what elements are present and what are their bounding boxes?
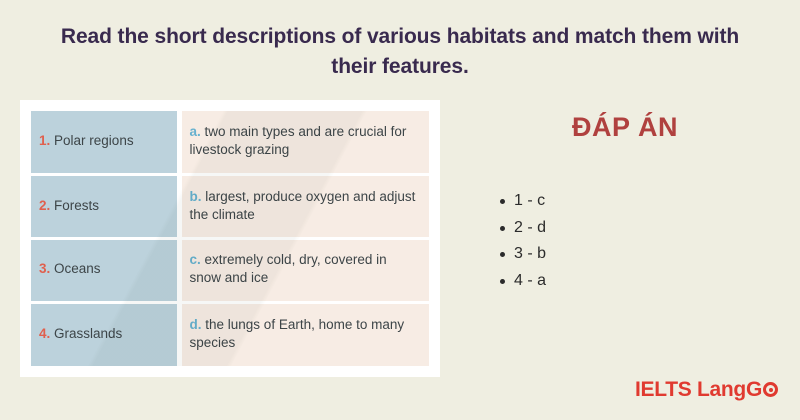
habitat-cell: 1. Polar regions: [31, 111, 179, 175]
feature-label: c. extremely cold, dry, covered in snow …: [190, 251, 422, 287]
list-item: 3 - b: [514, 241, 546, 268]
feature-label: d. the lungs of Earth, home to many spec…: [190, 316, 422, 352]
habitat-name: Forests: [54, 198, 99, 213]
answer-key-title: ĐÁP ÁN: [460, 112, 790, 143]
row-number: 3.: [39, 261, 50, 276]
feature-cell: b. largest, produce oxygen and adjust th…: [179, 175, 429, 239]
row-letter: d.: [190, 317, 202, 332]
answer-key-list: 1 - c 2 - d 3 - b 4 - a: [492, 188, 546, 295]
list-item: 1 - c: [514, 188, 546, 215]
table-row: 4. Grasslands d. the lungs of Earth, hom…: [31, 302, 429, 366]
habitat-name: Polar regions: [54, 133, 134, 148]
list-item: 4 - a: [514, 268, 546, 295]
feature-label: a. two main types and are crucial for li…: [190, 123, 422, 159]
page-title: Read the short descriptions of various h…: [60, 22, 740, 82]
feature-text: largest, produce oxygen and adjust the c…: [190, 189, 416, 222]
habitat-label: 1. Polar regions: [39, 132, 169, 150]
feature-text: extremely cold, dry, covered in snow and…: [190, 252, 387, 285]
feature-cell: d. the lungs of Earth, home to many spec…: [179, 302, 429, 366]
feature-cell: c. extremely cold, dry, covered in snow …: [179, 239, 429, 303]
matching-table-body: 1. Polar regions a. two main types and a…: [31, 111, 429, 366]
brand-logo: IELTS LangG: [635, 378, 778, 402]
feature-text: the lungs of Earth, home to many species: [190, 317, 405, 350]
feature-label: b. largest, produce oxygen and adjust th…: [190, 188, 422, 224]
habitat-label: 2. Forests: [39, 197, 169, 215]
brand-logo-text: IELTS LangG: [635, 378, 762, 402]
habitat-name: Grasslands: [54, 326, 122, 341]
row-letter: c.: [190, 252, 201, 267]
row-number: 1.: [39, 133, 50, 148]
table-row: 2. Forests b. largest, produce oxygen an…: [31, 175, 429, 239]
habitat-name: Oceans: [54, 261, 101, 276]
feature-cell: a. two main types and are crucial for li…: [179, 111, 429, 175]
brand-logo-dot-icon: [763, 382, 778, 397]
habitat-cell: 3. Oceans: [31, 239, 179, 303]
matching-table-card: 1. Polar regions a. two main types and a…: [20, 100, 440, 377]
habitat-label: 4. Grasslands: [39, 325, 169, 343]
habitat-label: 3. Oceans: [39, 260, 169, 278]
row-letter: a.: [190, 124, 201, 139]
table-row: 1. Polar regions a. two main types and a…: [31, 111, 429, 175]
row-number: 4.: [39, 326, 50, 341]
row-number: 2.: [39, 198, 50, 213]
matching-table: 1. Polar regions a. two main types and a…: [31, 111, 429, 366]
habitat-cell: 2. Forests: [31, 175, 179, 239]
list-item: 2 - d: [514, 215, 546, 242]
table-row: 3. Oceans c. extremely cold, dry, covere…: [31, 239, 429, 303]
habitat-cell: 4. Grasslands: [31, 302, 179, 366]
row-letter: b.: [190, 189, 202, 204]
feature-text: two main types and are crucial for lives…: [190, 124, 407, 157]
